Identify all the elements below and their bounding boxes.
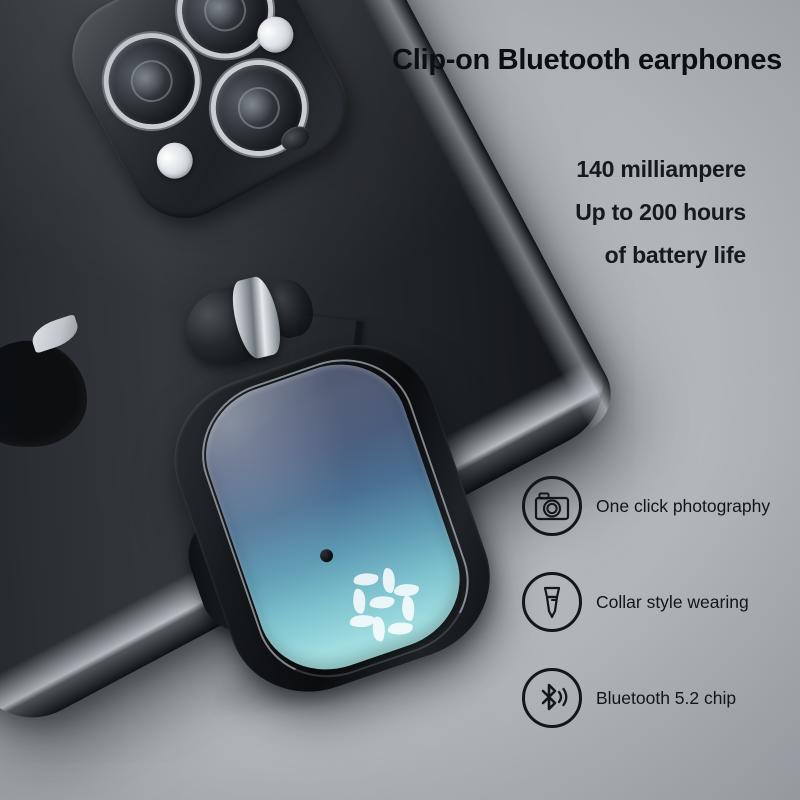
page-title: Clip-on Bluetooth earphones	[392, 44, 782, 77]
emblem-petal	[370, 616, 387, 642]
battery-life-line: of battery life	[575, 234, 746, 277]
feature-list: One click photography Collar style weari…	[522, 458, 800, 746]
battery-spec-block: 140 milliampere Up to 200 hours of batte…	[575, 148, 746, 277]
emblem-petal	[351, 588, 368, 614]
emblem-petal	[369, 594, 395, 611]
emblem-petal	[349, 613, 375, 630]
camera-icon	[522, 476, 582, 536]
battery-capacity-line: 140 milliampere	[575, 148, 746, 191]
feature-item: Collar style wearing	[522, 554, 800, 650]
apple-logo-bite	[63, 359, 105, 411]
apple-logo	[0, 315, 89, 447]
feature-label: Collar style wearing	[596, 592, 749, 613]
feature-label: One click photography	[596, 496, 770, 517]
battery-hours-line: Up to 200 hours	[575, 191, 746, 234]
emblem-petal	[400, 595, 417, 621]
bluetooth-icon	[522, 668, 582, 728]
feature-item: One click photography	[522, 458, 800, 554]
feature-label: Bluetooth 5.2 chip	[596, 688, 736, 709]
feature-item: Bluetooth 5.2 chip	[522, 650, 800, 746]
product-marketing-image: Clip-on Bluetooth earphones 140 milliamp…	[0, 0, 800, 800]
emblem-petal	[387, 620, 413, 637]
necktie-icon	[522, 572, 582, 632]
